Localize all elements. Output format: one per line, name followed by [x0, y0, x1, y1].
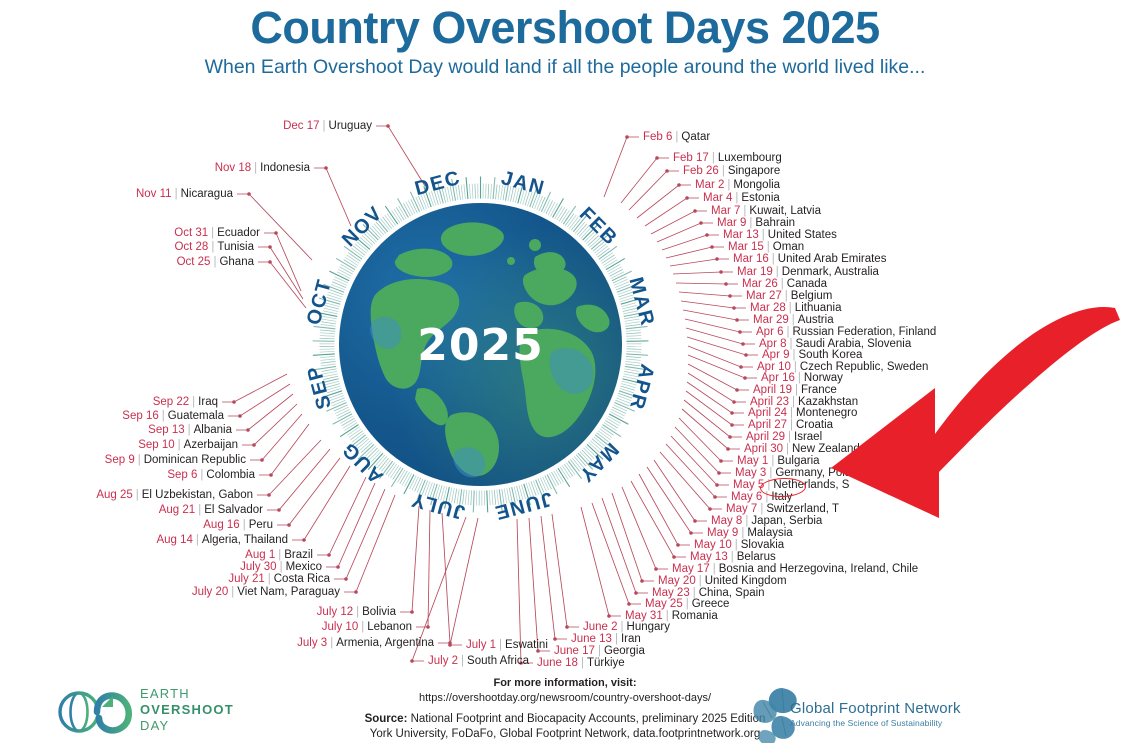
- leader-dot: [672, 555, 676, 559]
- leader-dot: [267, 493, 271, 497]
- entry-separator: |: [743, 205, 746, 217]
- leader-dot: [448, 643, 452, 647]
- entry-date: Oct 28: [174, 241, 208, 253]
- entry-countries: Georgia: [604, 645, 645, 657]
- overshoot-entry: Feb 26|Singapore: [683, 165, 780, 178]
- entry-separator: |: [615, 633, 618, 645]
- overshoot-entry: Oct 31|Ecuador: [174, 227, 260, 240]
- entry-separator: |: [789, 302, 792, 314]
- entry-countries: Bulgaria: [777, 455, 819, 467]
- entry-countries: Nicaragua: [181, 188, 233, 200]
- entry-countries: Colombia: [206, 469, 255, 481]
- header: Country Overshoot Days 2025 When Earth O…: [0, 0, 1130, 79]
- leader-dot: [730, 411, 734, 415]
- eod-line-2: OVERSHOOT: [140, 702, 234, 718]
- leader-dot: [738, 330, 742, 334]
- entry-separator: |: [268, 573, 271, 585]
- entry-date: June 17: [554, 645, 595, 657]
- entry-separator: |: [356, 606, 359, 618]
- leader-dot: [607, 614, 611, 618]
- leader-line: [666, 247, 724, 258]
- entry-separator: |: [178, 439, 181, 451]
- entry-separator: |: [767, 241, 770, 253]
- entry-date: Mar 15: [728, 241, 764, 253]
- entry-separator: |: [162, 410, 165, 422]
- entry-countries: Viet Nam, Paraguay: [237, 586, 340, 598]
- entry-date: May 3: [735, 467, 766, 479]
- leader-dot: [676, 543, 680, 547]
- entry-countries: Canada: [787, 278, 827, 290]
- leader-dot: [715, 257, 719, 261]
- leader-dot: [708, 507, 712, 511]
- overshoot-entry: Dec 17|Uruguay: [283, 120, 372, 133]
- leader-dot: [730, 423, 734, 427]
- leader-line: [683, 310, 749, 320]
- entry-countries: Tunisia: [217, 241, 254, 253]
- leader-line: [676, 283, 738, 284]
- entry-date: Oct 31: [174, 227, 208, 239]
- entry-separator: |: [735, 539, 738, 551]
- entry-separator: |: [136, 489, 139, 501]
- entry-separator: |: [598, 645, 601, 657]
- entry-date: July 10: [322, 621, 358, 633]
- year-label: 2025: [339, 320, 622, 371]
- entry-countries: Indonesia: [260, 162, 310, 174]
- leader-line: [222, 374, 287, 402]
- entry-separator: |: [280, 561, 283, 573]
- entry-countries: Bosnia and Herzegovina, Ireland, Chile: [719, 563, 918, 575]
- entry-separator: |: [175, 188, 178, 200]
- leader-dot: [728, 435, 732, 439]
- entry-separator: |: [741, 527, 744, 539]
- entry-separator: |: [790, 407, 793, 419]
- leader-dot: [269, 473, 273, 477]
- entry-date: July 2: [428, 655, 458, 667]
- entry-countries: Japan, Serbia: [751, 515, 822, 527]
- leader-line: [228, 384, 290, 416]
- leader-dot: [739, 365, 743, 369]
- leader-line: [529, 518, 550, 651]
- leader-dot: [344, 577, 348, 581]
- entry-separator: |: [713, 563, 716, 575]
- leader-dot: [260, 458, 264, 462]
- overshoot-entry: Sep 9|Dominican Republic: [105, 454, 246, 467]
- entry-separator: |: [323, 120, 326, 132]
- leader-dot: [710, 245, 714, 249]
- earth-globe-icon: 2025: [339, 203, 622, 486]
- entry-date: Apr 6: [756, 326, 784, 338]
- entry-date: Mar 13: [723, 229, 759, 241]
- entry-date: Feb 6: [643, 131, 672, 143]
- leader-dot: [246, 428, 250, 432]
- leader-line: [679, 292, 742, 296]
- entry-date: Sep 22: [153, 396, 189, 408]
- entry-countries: Ecuador: [217, 227, 260, 239]
- leader-dot: [732, 306, 736, 310]
- entry-date: Aug 21: [159, 504, 195, 516]
- entry-date: Nov 11: [136, 188, 172, 200]
- leader-line: [682, 409, 740, 449]
- entry-separator: |: [330, 637, 333, 649]
- leader-dot: [726, 447, 730, 451]
- overshoot-entry: Sep 10|Azerbaijan: [138, 439, 238, 452]
- entry-countries: Algeria, Thailand: [202, 534, 288, 546]
- entry-countries: Bolivia: [362, 606, 396, 618]
- entry-separator: |: [760, 503, 763, 515]
- overshoot-entry: Aug 25|El Uzbekistan, Gabon: [96, 489, 253, 502]
- overshoot-entry: July 20|Viet Nam, Paraguay: [192, 586, 340, 599]
- leader-dot: [699, 221, 703, 225]
- entry-date: Mar 28: [750, 302, 786, 314]
- entry-date: Apr 16: [761, 372, 795, 384]
- entry-countries: Slovakia: [741, 539, 784, 551]
- overshoot-entry: July 30|Mexico: [240, 561, 322, 574]
- entry-separator: |: [795, 384, 798, 396]
- globe-calendar: 2025 JANFEBMARAPRMAYJUNEJULYAUGSEPOCTNOV…: [288, 152, 673, 537]
- entry-countries: Iran: [621, 633, 641, 645]
- leader-dot: [268, 245, 272, 249]
- leader-dot: [386, 124, 390, 128]
- leader-line: [686, 328, 755, 344]
- leader-dot: [685, 196, 689, 200]
- entry-date: Sep 6: [167, 469, 197, 481]
- leader-dot: [336, 565, 340, 569]
- entry-date: Feb 26: [683, 165, 719, 177]
- leader-dot: [268, 260, 272, 264]
- leader-dot: [693, 209, 697, 213]
- leader-dot: [715, 483, 719, 487]
- leader-line: [673, 272, 733, 274]
- entry-separator: |: [790, 419, 793, 431]
- leader-line: [687, 382, 744, 413]
- entry-date: May 1: [737, 455, 768, 467]
- entry-countries: United Kingdom: [705, 575, 787, 587]
- eod-line-1: EARTH: [140, 686, 234, 702]
- entry-countries: Costa Rica: [274, 573, 330, 585]
- overshoot-entry: Sep 6|Colombia: [167, 469, 255, 482]
- leader-line: [684, 400, 742, 437]
- entry-countries: El Uzbekistan, Gabon: [142, 489, 253, 501]
- leader-line: [686, 391, 744, 425]
- overshoot-entry: Mar 4|Estonia: [703, 192, 780, 205]
- entry-date: July 1: [466, 639, 496, 651]
- entry-separator: |: [231, 586, 234, 598]
- entry-countries: Azerbaijan: [184, 439, 238, 451]
- leader-dot: [719, 270, 723, 274]
- leader-dot: [553, 637, 557, 641]
- leader-dot: [448, 641, 452, 645]
- leader-dot: [238, 414, 242, 418]
- overshoot-entry: July 21|Costa Rica: [228, 573, 330, 586]
- leader-line: [670, 259, 729, 266]
- overshoot-entry: Oct 28|Tunisia: [174, 241, 254, 254]
- entry-separator: |: [772, 253, 775, 265]
- highlight-circle: [760, 477, 807, 498]
- leader-line: [236, 394, 293, 430]
- entry-separator: |: [735, 192, 738, 204]
- entry-date: Mar 7: [711, 205, 740, 217]
- entry-countries: Mexico: [286, 561, 322, 573]
- entry-date: Feb 17: [673, 152, 709, 164]
- entry-countries: Mongolia: [733, 179, 780, 191]
- overshoot-entry: Oct 25|Ghana: [177, 256, 254, 269]
- entry-countries: Lebanon: [367, 621, 412, 633]
- overshoot-entry: Sep 13|Albania: [148, 424, 232, 437]
- entry-separator: |: [278, 549, 281, 561]
- leader-dot: [705, 233, 709, 237]
- red-arrow-annotation: [815, 300, 1130, 525]
- leader-line: [679, 418, 733, 461]
- leader-dot: [327, 553, 331, 557]
- page-title: Country Overshoot Days 2025: [0, 4, 1130, 51]
- entry-date: Mar 16: [733, 253, 769, 265]
- overshoot-entry: Nov 18|Indonesia: [215, 162, 310, 175]
- overshoot-entry: Feb 17|Luxembourg: [673, 152, 782, 165]
- entry-separator: |: [787, 326, 790, 338]
- overshoot-entry: Nov 11|Nicaragua: [136, 188, 233, 201]
- entry-separator: |: [749, 217, 752, 229]
- entry-date: May 20: [658, 575, 696, 587]
- leader-dot: [232, 400, 236, 404]
- entry-date: April 29: [746, 431, 785, 443]
- leader-dot: [735, 318, 739, 322]
- overshoot-entry: Feb 6|Qatar: [643, 131, 710, 144]
- entry-separator: |: [499, 639, 502, 651]
- entry-countries: Oman: [773, 241, 804, 253]
- entry-countries: United Arab Emirates: [778, 253, 887, 265]
- leader-dot: [426, 625, 430, 629]
- entry-separator: |: [699, 575, 702, 587]
- entry-date: April 30: [744, 443, 783, 455]
- overshoot-entry: June 18|Türkiye: [537, 657, 625, 670]
- entry-date: Mar 2: [695, 179, 724, 191]
- entry-date: April 19: [753, 384, 792, 396]
- gfn-tagline: Advancing the Science of Sustainability: [790, 718, 961, 728]
- entry-separator: |: [211, 227, 214, 239]
- overshoot-entry: Mar 16|United Arab Emirates: [733, 253, 886, 266]
- leader-dot: [728, 294, 732, 298]
- entry-date: June 13: [571, 633, 612, 645]
- entry-separator: |: [792, 314, 795, 326]
- entry-separator: |: [776, 266, 779, 278]
- gfn-name: Global Footprint Network: [790, 700, 961, 717]
- entry-countries: Ghana: [219, 256, 254, 268]
- entry-date: Mar 4: [703, 192, 732, 204]
- entry-countries: Estonia: [741, 192, 779, 204]
- entry-date: Aug 14: [156, 534, 192, 546]
- overshoot-entry: Aug 14|Algeria, Thailand: [156, 534, 288, 547]
- leader-line: [688, 364, 749, 390]
- entry-separator: |: [581, 657, 584, 669]
- leader-dot: [274, 231, 278, 235]
- leader-dot: [689, 531, 693, 535]
- entry-date: Mar 19: [737, 266, 773, 278]
- leader-line: [666, 444, 727, 497]
- entry-countries: Qatar: [681, 131, 710, 143]
- entry-date: Aug 16: [203, 519, 239, 531]
- entry-separator: |: [361, 621, 364, 633]
- entry-countries: Malaysia: [747, 527, 792, 539]
- entry-date: Dec 17: [283, 120, 319, 132]
- entry-date: July 30: [240, 561, 276, 573]
- entry-separator: |: [785, 290, 788, 302]
- leader-dot: [724, 282, 728, 286]
- entry-date: Sep 13: [148, 424, 184, 436]
- entry-date: Mar 27: [746, 290, 782, 302]
- entry-date: Mar 9: [717, 217, 746, 229]
- leader-dot: [277, 508, 281, 512]
- overshoot-entry: Mar 2|Mongolia: [695, 179, 780, 192]
- overshoot-entry: Aug 16|Peru: [203, 519, 273, 532]
- overshoot-entry: Aug 21|El Salvador: [159, 504, 263, 517]
- entry-countries: Greece: [692, 598, 730, 610]
- entry-separator: |: [675, 131, 678, 143]
- entry-separator: |: [781, 278, 784, 290]
- entry-separator: |: [786, 443, 789, 455]
- entry-countries: Dominican Republic: [144, 454, 246, 466]
- entry-date: May 25: [645, 598, 683, 610]
- leader-dot: [640, 579, 644, 583]
- entry-date: May 9: [707, 527, 738, 539]
- leader-line: [675, 427, 731, 473]
- entry-separator: |: [686, 598, 689, 610]
- entry-date: May 7: [726, 503, 757, 515]
- entry-separator: |: [188, 424, 191, 436]
- entry-countries: El Salvador: [204, 504, 263, 516]
- leader-dot: [717, 471, 721, 475]
- entry-date: Mar 29: [753, 314, 789, 326]
- entry-countries: Iraq: [198, 396, 218, 408]
- entry-date: April 24: [748, 407, 787, 419]
- entry-separator: |: [745, 515, 748, 527]
- leader-dot: [354, 590, 358, 594]
- leader-line: [688, 355, 757, 378]
- entry-date: Aug 1: [245, 549, 275, 561]
- entry-separator: |: [793, 349, 796, 361]
- entry-separator: |: [461, 655, 464, 667]
- entry-separator: |: [192, 396, 195, 408]
- source-label: Source:: [365, 713, 408, 725]
- earth-overshoot-day-wordmark: EARTH OVERSHOOT DAY: [140, 686, 234, 734]
- entry-separator: |: [762, 229, 765, 241]
- entry-separator: |: [712, 152, 715, 164]
- entry-date: Mar 26: [742, 278, 778, 290]
- leader-dot: [719, 459, 723, 463]
- entry-date: July 20: [192, 586, 228, 598]
- entry-countries: United States: [768, 229, 837, 241]
- leader-dot: [627, 602, 631, 606]
- overshoot-entry: July 3|Armenia, Argentina: [297, 637, 434, 650]
- leader-dot: [743, 376, 747, 380]
- entry-separator: |: [722, 165, 725, 177]
- entry-separator: |: [213, 256, 216, 268]
- entry-separator: |: [138, 454, 141, 466]
- leader-line: [671, 436, 729, 485]
- entry-countries: Belarus: [737, 551, 776, 563]
- entry-date: May 13: [690, 551, 728, 563]
- entry-separator: |: [788, 431, 791, 443]
- leader-dot: [410, 659, 414, 663]
- entry-date: Oct 25: [177, 256, 211, 268]
- leader-line: [688, 346, 753, 367]
- leader-dot: [693, 519, 697, 523]
- entry-date: July 21: [228, 573, 264, 585]
- entry-separator: |: [254, 162, 257, 174]
- entry-countries: Brazil: [284, 549, 313, 561]
- entry-countries: Guatemala: [168, 410, 224, 422]
- entry-countries: Bahrain: [755, 217, 795, 229]
- entry-date: May 6: [731, 491, 762, 503]
- leader-line: [687, 337, 758, 355]
- entry-date: May 10: [694, 539, 732, 551]
- global-footprint-network-wordmark: Global Footprint Network Advancing the S…: [790, 700, 961, 728]
- leader-dot: [735, 388, 739, 392]
- overshoot-entry: July 2|South Africa: [428, 655, 529, 668]
- leader-line: [685, 319, 752, 332]
- entry-date: July 3: [297, 637, 327, 649]
- leader-dot: [252, 443, 256, 447]
- entry-date: May 8: [711, 515, 742, 527]
- entry-separator: |: [211, 241, 214, 253]
- entry-separator: |: [798, 372, 801, 384]
- leader-dot: [247, 192, 251, 196]
- entry-countries: Kuwait, Latvia: [749, 205, 821, 217]
- overshoot-entry: July 12|Bolivia: [317, 606, 396, 619]
- entry-countries: Armenia, Argentina: [336, 637, 434, 649]
- leader-dot: [744, 353, 748, 357]
- entry-date: Sep 10: [138, 439, 174, 451]
- source-text-1: National Footprint and Biocapacity Accou…: [411, 713, 766, 725]
- entry-date: Nov 18: [215, 162, 251, 174]
- page-subtitle: When Earth Overshoot Day would land if a…: [0, 57, 1130, 78]
- entry-separator: |: [243, 519, 246, 531]
- entry-separator: |: [731, 551, 734, 563]
- entry-date: April 27: [748, 419, 787, 431]
- entry-separator: |: [769, 467, 772, 479]
- leader-dot: [654, 567, 658, 571]
- leader-dot: [410, 610, 414, 614]
- leader-dot: [713, 495, 717, 499]
- entry-date: June 18: [537, 657, 578, 669]
- entry-separator: |: [200, 469, 203, 481]
- leader-line: [681, 301, 746, 308]
- leader-dot: [677, 183, 681, 187]
- entry-date: Aug 25: [96, 489, 132, 501]
- entry-countries: Türkiye: [587, 657, 625, 669]
- entry-date: May 17: [672, 563, 710, 575]
- entry-countries: Luxembourg: [718, 152, 782, 164]
- entry-separator: |: [771, 455, 774, 467]
- entry-countries: Denmark, Australia: [782, 266, 879, 278]
- entry-countries: Peru: [249, 519, 273, 531]
- entry-countries: Singapore: [728, 165, 780, 177]
- entry-countries: Albania: [194, 424, 232, 436]
- entry-separator: |: [196, 534, 199, 546]
- entry-countries: Uruguay: [329, 120, 372, 132]
- entry-date: Sep 16: [122, 410, 158, 422]
- overshoot-entry: July 1|Eswatini: [466, 639, 548, 652]
- entry-separator: |: [621, 621, 624, 633]
- leader-dot: [634, 591, 638, 595]
- entry-date: June 2: [583, 621, 618, 633]
- overshoot-entry: Sep 16|Guatemala: [122, 410, 224, 423]
- leader-dot: [732, 400, 736, 404]
- entry-countries: Hungary: [627, 621, 670, 633]
- leader-dot: [302, 538, 306, 542]
- leader-line: [688, 373, 746, 402]
- entry-separator: |: [198, 504, 201, 516]
- leader-dot: [741, 342, 745, 346]
